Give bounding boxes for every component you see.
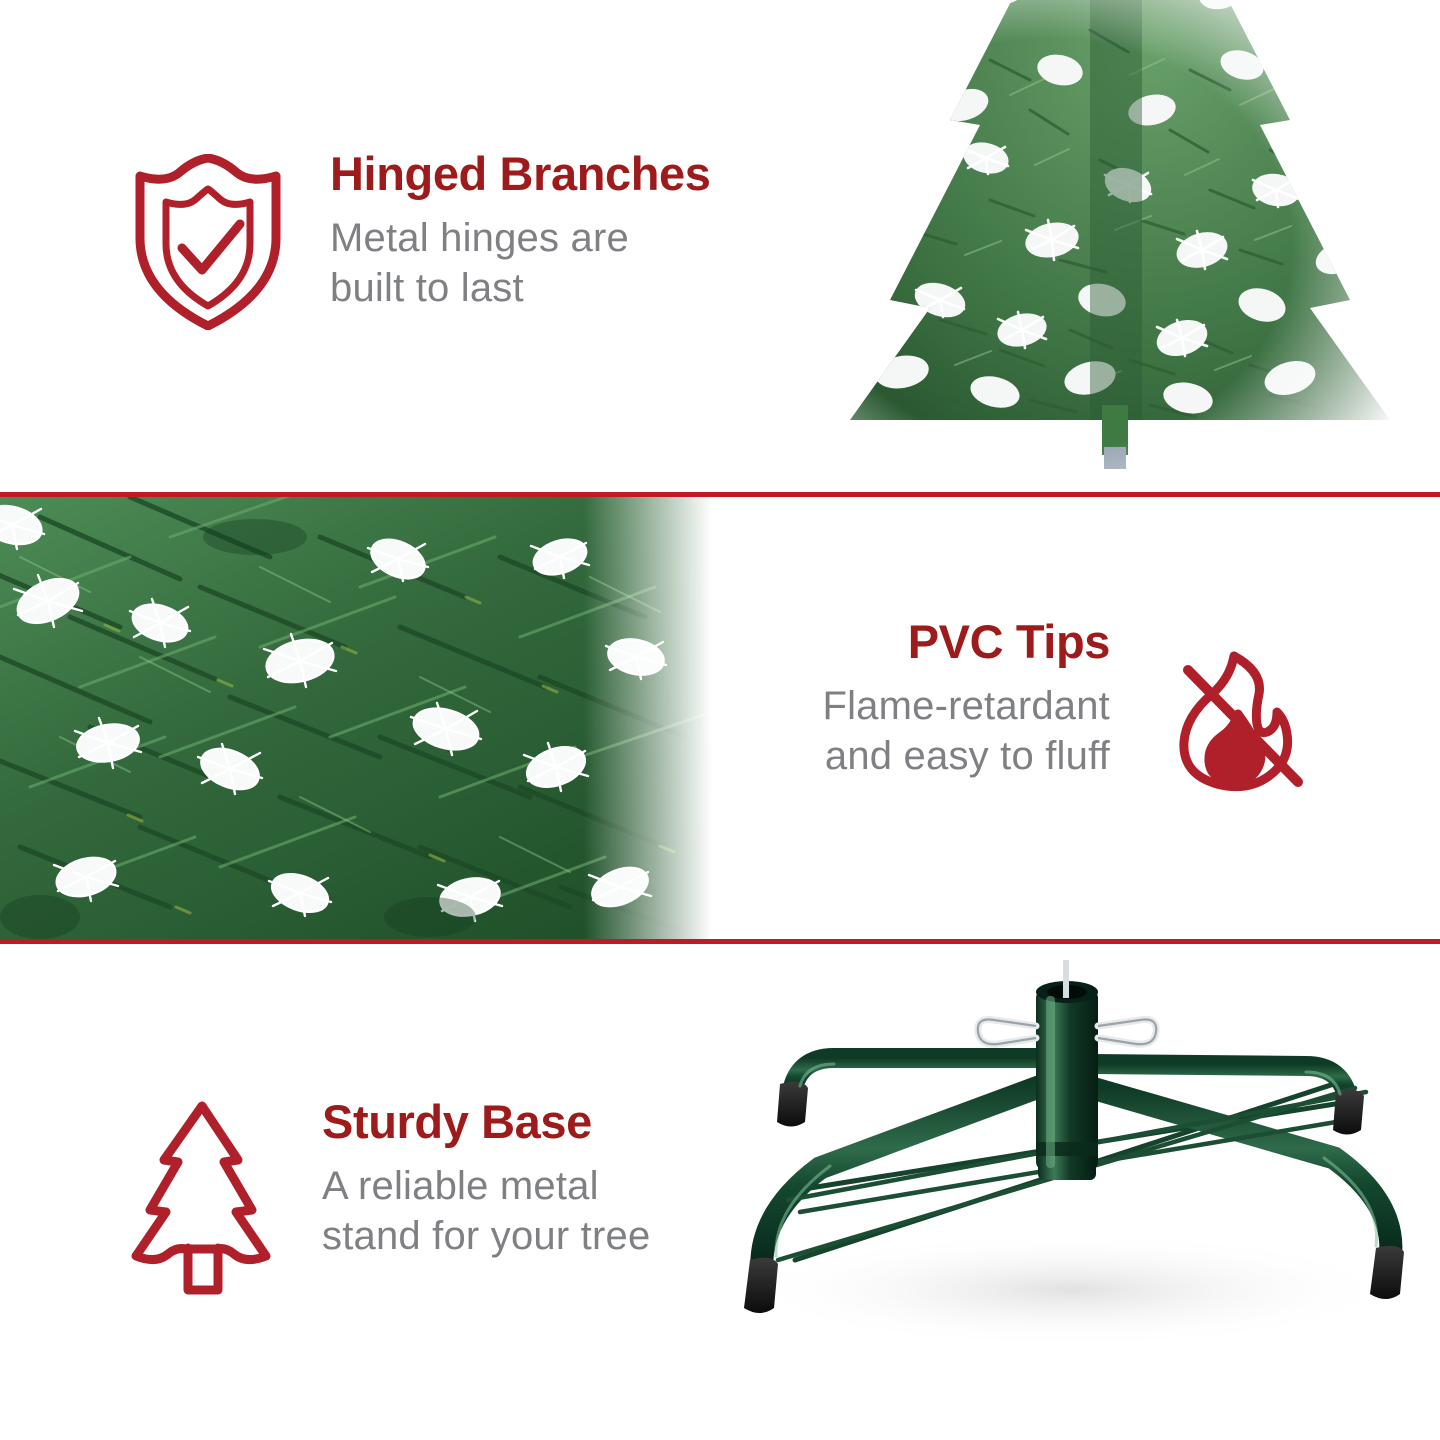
feature-heading: PVC Tips [908, 618, 1110, 665]
feature-subtitle: Metal hinges are built to last [330, 214, 711, 313]
christmas-tree-icon [128, 1098, 278, 1303]
shield-check-icon [128, 154, 288, 335]
divider-rule-bottom [0, 939, 1440, 944]
feature-subtitle-line-1: Metal hinges are [330, 214, 711, 264]
feature-subtitle-line-1: Flame-retardant [822, 682, 1110, 732]
feature-subtitle-line-2: and easy to fluff [822, 732, 1110, 782]
no-flame-icon [1172, 648, 1312, 803]
feature-heading: Sturdy Base [322, 1098, 650, 1145]
divider-rule-top [0, 492, 1440, 497]
feature-text-block: Sturdy Base A reliable metal stand for y… [322, 1098, 650, 1261]
flocked-christmas-tree-photo [790, 0, 1440, 490]
feature-text-block: Hinged Branches Metal hinges are built t… [330, 150, 711, 313]
product-feature-infographic: Hinged Branches Metal hinges are built t… [0, 0, 1440, 1440]
feature-sturdy-base: Sturdy Base A reliable metal stand for y… [128, 1098, 650, 1303]
flocked-branch-closeup-photo [0, 497, 712, 939]
feature-subtitle: Flame-retardant and easy to fluff [822, 682, 1110, 781]
feature-subtitle-line-1: A reliable metal [322, 1162, 650, 1212]
feature-heading: Hinged Branches [330, 150, 711, 197]
metal-tree-stand-photo [700, 960, 1440, 1380]
feature-pvc-tips: PVC Tips Flame-retardant and easy to flu… [720, 618, 1312, 803]
feature-subtitle-line-2: built to last [330, 264, 711, 314]
feature-subtitle: A reliable metal stand for your tree [322, 1162, 650, 1261]
feature-subtitle-line-2: stand for your tree [322, 1212, 650, 1262]
feature-hinged-branches: Hinged Branches Metal hinges are built t… [128, 150, 711, 335]
feature-text-block: PVC Tips Flame-retardant and easy to flu… [822, 618, 1110, 781]
